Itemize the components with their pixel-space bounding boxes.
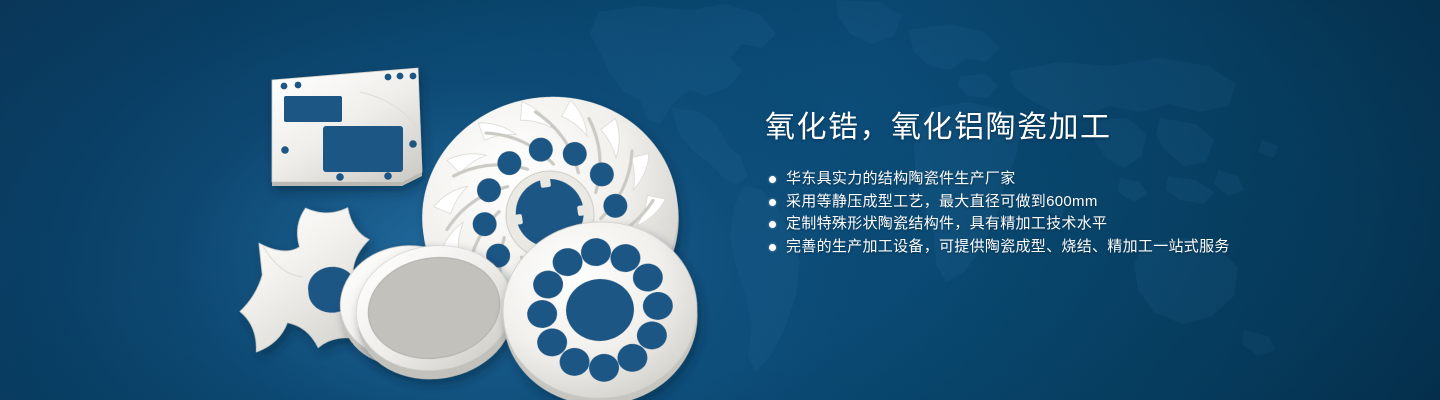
banner-text-block: 氧化锆，氧化铝陶瓷加工 华东具实力的结构陶瓷件生产厂家 采用等静压成型工艺，最大… bbox=[765, 108, 1325, 258]
feature-list: 华东具实力的结构陶瓷件生产厂家 采用等静压成型工艺，最大直径可做到600mm 定… bbox=[765, 168, 1325, 258]
list-item-label: 定制特殊形状陶瓷结构件，具有精加工技术水平 bbox=[786, 215, 1107, 232]
list-item: 定制特殊形状陶瓷结构件，具有精加工技术水平 bbox=[765, 213, 1325, 236]
list-item: 华东具实力的结构陶瓷件生产厂家 bbox=[765, 168, 1325, 191]
list-item-label: 华东具实力的结构陶瓷件生产厂家 bbox=[786, 170, 1016, 187]
bullet-icon bbox=[769, 221, 776, 228]
bullet-icon bbox=[769, 176, 776, 183]
bullet-icon bbox=[769, 199, 776, 206]
list-item-label: 完善的生产加工设备，可提供陶瓷成型、烧结、精加工一站式服务 bbox=[786, 238, 1230, 255]
list-item-label: 采用等静压成型工艺，最大直径可做到600mm bbox=[786, 193, 1098, 210]
page-title: 氧化锆，氧化铝陶瓷加工 bbox=[765, 108, 1325, 148]
bullet-icon bbox=[769, 244, 776, 251]
list-item: 采用等静压成型工艺，最大直径可做到600mm bbox=[765, 191, 1325, 214]
list-item: 完善的生产加工设备，可提供陶瓷成型、烧结、精加工一站式服务 bbox=[765, 236, 1325, 259]
hero-banner: 氧化锆，氧化铝陶瓷加工 华东具实力的结构陶瓷件生产厂家 采用等静压成型工艺，最大… bbox=[0, 0, 1440, 400]
